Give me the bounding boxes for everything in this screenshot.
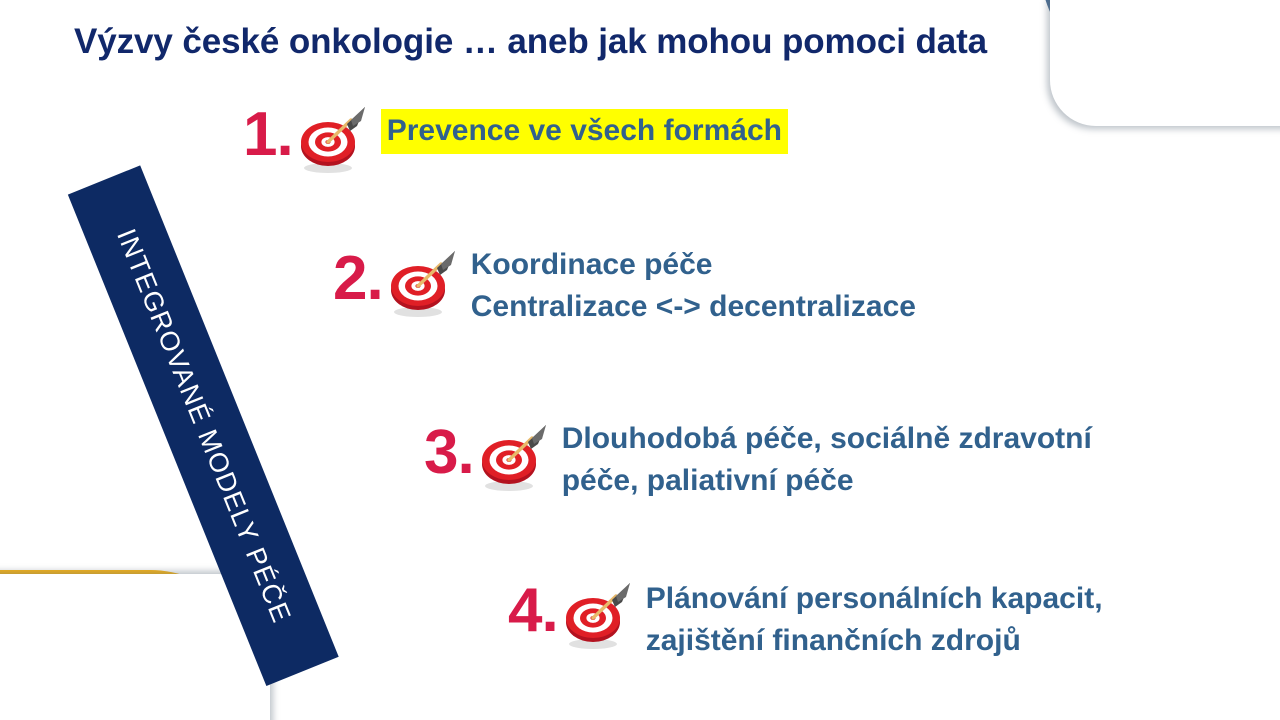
item-number: 4. (508, 580, 558, 642)
list-item: 3. Dlouhodobá péče, sociálně zdravotní p… (424, 422, 1092, 502)
item-text-line: Centralizace <-> decentralizace (471, 286, 916, 328)
item-text: Prevence ve všech formách (381, 109, 788, 154)
item-text: Dlouhodobá péče, sociálně zdravotní péče… (562, 418, 1092, 502)
item-text-line: zajištění finančních zdrojů (646, 620, 1103, 662)
top-right-corner-page (1050, 0, 1280, 126)
item-number: 2. (333, 248, 383, 310)
slide-title: Výzvy české onkologie … aneb jak mohou p… (74, 22, 1224, 62)
item-text: Plánování personálních kapacit, zajištěn… (646, 578, 1103, 662)
side-banner-label: INTEGROVANÉ MODELY PÉČE (110, 224, 297, 627)
item-number: 1. (243, 104, 293, 166)
list-item: 4. Plánování personálních kapacit, zajiš… (508, 580, 1103, 662)
item-text-line-highlighted: Prevence ve všech formách (381, 109, 788, 154)
target-dart-icon (476, 422, 548, 494)
item-text-line: Plánování personálních kapacit, (646, 578, 1103, 620)
item-text-line: Dlouhodobá péče, sociálně zdravotní (562, 418, 1092, 460)
item-text-line: péče, paliativní péče (562, 460, 1092, 502)
list-item: 2. Koordinace péče Centralizace <-> dece… (333, 248, 916, 328)
presentation-slide: Výzvy české onkologie … aneb jak mohou p… (0, 0, 1280, 720)
target-dart-icon (295, 104, 367, 176)
item-text: Koordinace péče Centralizace <-> decentr… (471, 244, 916, 328)
item-text-line: Koordinace péče (471, 244, 916, 286)
list-item: 1. Prevence ve všech formách (243, 104, 788, 176)
item-number: 3. (424, 422, 474, 484)
target-dart-icon (560, 580, 632, 652)
target-dart-icon (385, 248, 457, 320)
